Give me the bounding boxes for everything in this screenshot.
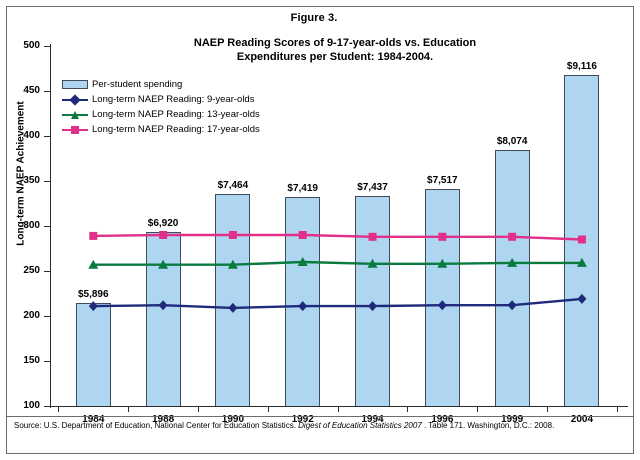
y-axis-tick (44, 226, 51, 227)
legend-line-swatch (62, 124, 88, 135)
legend-item: Long-term NAEP Reading: 9-year-olds (62, 92, 322, 107)
x-axis-tick (477, 406, 478, 412)
source-suffix: . Table 171. Washington, D.C.: 2008. (422, 421, 555, 430)
y-axis-tick (44, 271, 51, 272)
y-axis-tick (44, 91, 51, 92)
legend-square-marker (71, 126, 79, 134)
bar (285, 197, 320, 406)
x-axis-tick (547, 406, 548, 412)
y-axis-tick (44, 181, 51, 182)
x-axis-tick (198, 406, 199, 412)
source-italic-title: Digest of Education Statistics 2007 (298, 421, 422, 430)
figure-number: Figure 3. (0, 12, 628, 24)
legend-item-label: Long-term NAEP Reading: 9-year-olds (92, 94, 254, 105)
bar-value-label: $6,920 (128, 218, 198, 229)
legend-item: Long-term NAEP Reading: 17-year-olds (62, 122, 322, 137)
legend-line-swatch (62, 94, 88, 105)
legend-item: Per-student spending (62, 77, 322, 92)
legend-item-label: Per-student spending (92, 79, 182, 90)
source-note: Source: U.S. Department of Education, Na… (14, 421, 614, 430)
legend-line-swatch (62, 109, 88, 120)
bar-value-label: $7,437 (338, 182, 408, 193)
x-axis-tick (407, 406, 408, 412)
y-axis-tick (44, 406, 51, 407)
chart-title-line1: NAEP Reading Scores of 9-17-year-olds vs… (194, 37, 476, 49)
y-axis-tick (44, 136, 51, 137)
bar-value-label: $8,074 (477, 136, 547, 147)
bar-value-label: $7,464 (198, 180, 268, 191)
legend-item-label: Long-term NAEP Reading: 13-year-olds (92, 109, 260, 120)
bar (146, 232, 181, 406)
bar-value-label: $9,116 (547, 61, 617, 72)
x-axis-tick (58, 406, 59, 412)
y-axis-tick-label: 100 (0, 400, 40, 411)
y-axis-tick (44, 316, 51, 317)
y-axis-tick-label: 450 (0, 85, 40, 96)
y-axis-tick-label: 300 (0, 220, 40, 231)
bar (76, 303, 111, 407)
y-axis-tick-label: 500 (0, 40, 40, 51)
y-axis-tick-label: 150 (0, 355, 40, 366)
y-axis-tick (44, 361, 51, 362)
x-axis-tick (268, 406, 269, 412)
legend-bar-swatch (62, 80, 88, 89)
y-axis-tick-labels: 100150200250300350400450500 (0, 0, 44, 460)
chart-title: NAEP Reading Scores of 9-17-year-olds vs… (120, 36, 550, 64)
x-axis-tick (617, 406, 618, 412)
bar (495, 150, 530, 407)
bar (564, 75, 599, 406)
chart-legend: Per-student spendingLong-term NAEP Readi… (62, 77, 322, 137)
y-axis-tick (44, 46, 51, 47)
legend-diamond-marker (69, 94, 80, 105)
figure-root: Figure 3. NAEP Reading Scores of 9-17-ye… (0, 0, 640, 460)
bar-value-label: $5,896 (58, 289, 128, 300)
y-axis-tick-label: 400 (0, 130, 40, 141)
legend-item: Long-term NAEP Reading: 13-year-olds (62, 107, 322, 122)
legend-item-label: Long-term NAEP Reading: 17-year-olds (92, 124, 260, 135)
bar (355, 196, 390, 406)
bar-value-label: $7,517 (407, 175, 477, 186)
y-axis-tick-label: 250 (0, 265, 40, 276)
bar-value-label: $7,419 (268, 183, 338, 194)
x-axis-tick (128, 406, 129, 412)
y-axis-tick-label: 200 (0, 310, 40, 321)
bar (425, 189, 460, 406)
bar (215, 194, 250, 406)
y-axis-tick-label: 350 (0, 175, 40, 186)
x-axis-line (50, 406, 628, 407)
source-prefix: Source: U.S. Department of Education, Na… (14, 421, 298, 430)
x-axis-tick (338, 406, 339, 412)
chart-title-line2: Expenditures per Student: 1984-2004. (120, 50, 550, 64)
source-divider (7, 416, 633, 417)
